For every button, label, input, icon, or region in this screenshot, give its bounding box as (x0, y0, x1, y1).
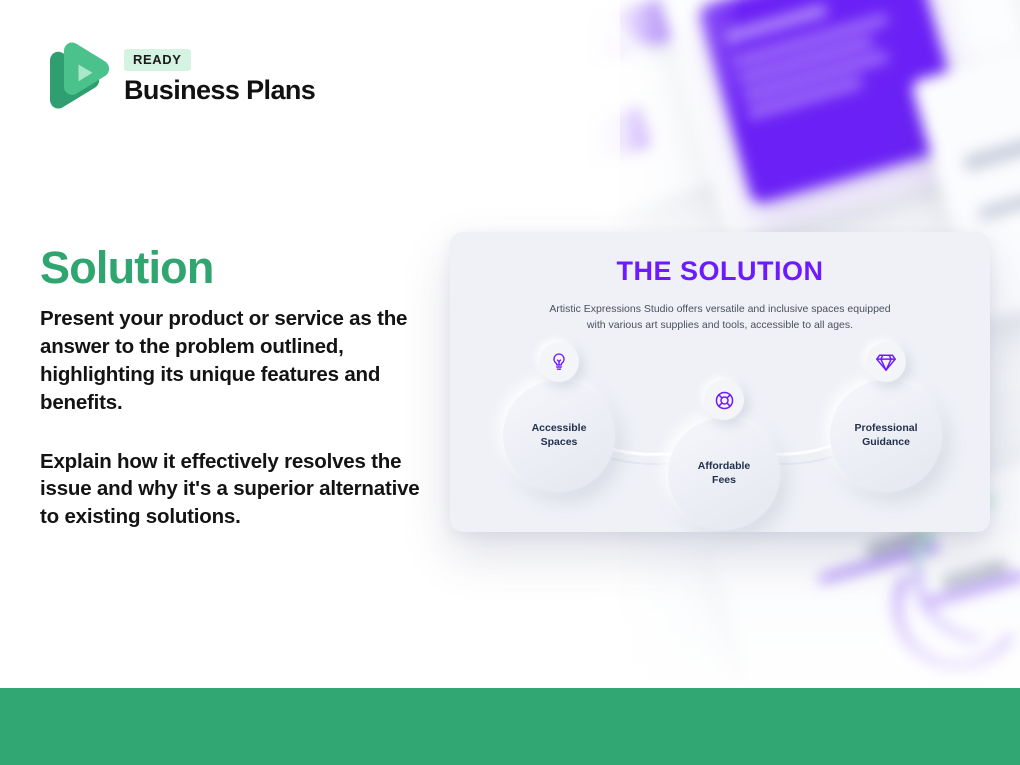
feature-bubble-accessible-spaces[interactable]: Accessible Spaces (503, 380, 615, 492)
media-bottom-fade (583, 508, 1020, 688)
lightbulb-icon (549, 352, 569, 372)
body-copy: Present your product or service as the a… (40, 305, 440, 531)
ready-badge: READY (124, 49, 191, 71)
preview-card-title: THE SOLUTION (450, 256, 990, 287)
feature-icon-pod (704, 380, 744, 420)
page-title: Solution (40, 242, 214, 294)
brand-text-stack: READY Business Plans (124, 49, 315, 106)
body-paragraph-2: Explain how it effectively resolves the … (40, 448, 440, 532)
double-play-triangle-logo (40, 38, 110, 116)
lifebuoy-icon (714, 390, 735, 411)
body-paragraph-1: Present your product or service as the a… (40, 305, 440, 417)
feature-icon-pod (539, 342, 579, 382)
feature-bubble-affordable-fees[interactable]: Affordable Fees (668, 418, 780, 530)
feature-bubble-professional-guidance[interactable]: Professional Guidance (830, 380, 942, 492)
solution-preview-card[interactable]: THE SOLUTION Artistic Expressions Studio… (450, 232, 990, 532)
diamond-icon (875, 351, 897, 373)
footer-bar (0, 688, 1020, 765)
preview-card-subtitle: Artistic Expressions Studio offers versa… (540, 302, 900, 334)
brand-lockup[interactable]: READY Business Plans (40, 38, 315, 116)
feature-icon-pod (866, 342, 906, 382)
feature-label: Accessible Spaces (532, 422, 587, 449)
feature-label: Affordable Fees (698, 460, 751, 487)
brand-name: Business Plans (124, 75, 315, 106)
slide-canvas: THE SOLUTION Artistic Expressions Studio… (0, 0, 1020, 765)
feature-label: Professional Guidance (854, 422, 917, 449)
